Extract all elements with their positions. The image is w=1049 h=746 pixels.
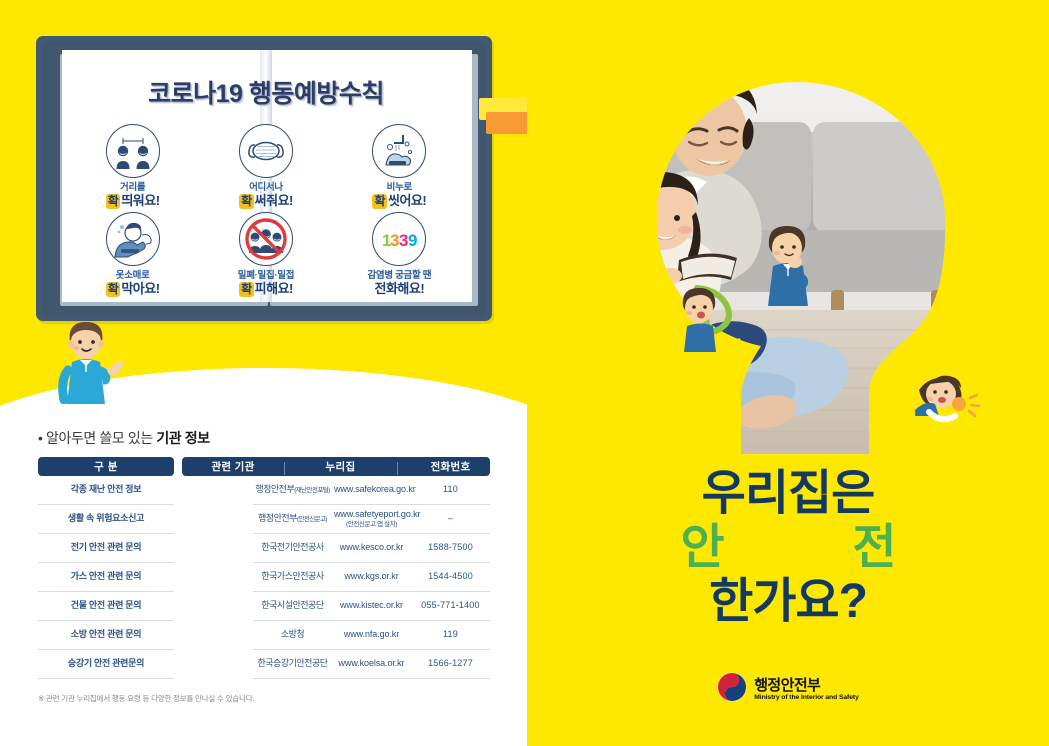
mascot-thinking-icon [755,220,821,306]
cell-url[interactable]: www.kistec.or.kr [332,592,411,621]
table-row: 승강기 안전 관련문의 한국승강기안전공단 www.koelsa.or.kr 1… [38,650,490,679]
cell-url[interactable]: www.nfa.go.kr [332,621,411,650]
poster-item-action: 피해요! [255,281,293,296]
badge-hwak: 확 [239,282,254,297]
svg-text:9: 9 [408,231,417,250]
cell-agency: 한국승강기안전공단 [253,650,332,679]
poster-item-line1: 감염병 궁금할 땐 [333,271,466,281]
cell-spacer [174,650,253,679]
cell-gubun: 건물 안전 관련 문의 [38,592,174,621]
heading-normal: • 알아두면 쓸모 있는 [38,430,156,446]
poster-item-mask: 어디서나 확써줘요! [199,124,332,210]
heading-strong: 기관 정보 [156,430,209,446]
cough-sleeve-icon [106,212,160,266]
agency-name: 행정안전부 [258,513,297,523]
poster-item-action: 씻어요! [388,193,426,208]
cell-url[interactable]: www.safekorea.go.kr [332,476,411,505]
cell-url[interactable]: www.kesco.or.kr [332,534,411,563]
poster-item-action: 띄워요! [121,193,159,208]
ministry-name-en: Ministry of the Interior and Safety [754,694,859,701]
cell-agency: 한국가스안전공사 [253,563,332,592]
badge-hwak: 확 [106,282,121,297]
badge-hwak: 확 [239,194,254,209]
poster-item-line1: 어디서나 [199,183,332,193]
poster-item-line2: 확피해요! [199,281,332,297]
cell-tel: 1566-1277 [411,650,490,679]
cell-spacer [174,505,253,534]
url-subtext: (안전신문고 앱 설치) [334,521,409,529]
agency-table-body: 각종 재난 안전 정보 행정안전부(재난안전포털) www.safekorea.… [38,476,490,679]
bookmark-orange-icon [486,112,527,134]
table-row: 전기 안전 관련 문의 한국전기안전공사 www.kesco.or.kr 158… [38,534,490,563]
call-1339-icon: 1 3 3 9 [372,212,426,266]
cell-tel: – [411,505,490,534]
ministry-logo: 행정안전부 Ministry of the Interior and Safet… [527,672,1049,707]
headline-jeon: 전 [852,522,895,574]
col-header-tel: 전화번호 [397,459,504,474]
cell-gubun: 생활 속 위험요소신고 [38,505,174,534]
poster-title: 코로나19 행동예방수칙 [66,74,466,110]
cell-tel: 055-771-1400 [411,592,490,621]
cover-headline: 우리집은 안 전 한가요? [527,468,1049,627]
cell-spacer [174,563,253,592]
col-header-group: 관련 기관 누리집 전화번호 [174,457,490,476]
table-row: 건물 안전 관련 문의 한국시설안전공단 www.kistec.or.kr 05… [38,592,490,621]
mask-icon [239,124,293,178]
headline-line-3: 한가요? [527,576,1049,628]
cell-url[interactable]: www.safetyeport.go.kr(안전신문고 앱 설치) [332,505,411,534]
table-row: 가스 안전 관련 문의 한국가스안전공사 www.kgs.or.kr 1544-… [38,563,490,592]
cell-gubun: 각종 재난 안전 정보 [38,476,174,505]
mascot-shouting-icon [675,282,747,352]
table-row: 각종 재난 안전 정보 행정안전부(재난안전포털) www.safekorea.… [38,476,490,505]
cell-gubun: 가스 안전 관련 문의 [38,563,174,592]
agency-info-section: • 알아두면 쓸모 있는 기관 정보 구 분 관련 기관 누리집 전화번호 [38,428,490,704]
poster-item-action: 써줘요! [255,193,293,208]
cell-gubun: 소방 안전 관련 문의 [38,621,174,650]
poster-item-line2: 확씻어요! [333,193,466,209]
poster-item-line1: 거리를 [66,183,199,193]
poster-item-action: 전화해요! [374,281,424,296]
poster-item-line1: 옷소매로 [66,271,199,281]
agency-name: 행정안전부 [255,484,294,494]
cell-agency: 행정안전부(재난안전포털) [253,476,332,505]
taegeuk-icon [717,672,747,707]
cell-spacer [174,476,253,505]
agency-paren: (재난안전포털) [294,487,329,494]
col-header-gubun: 구 분 [38,457,174,476]
badge-hwak: 확 [372,194,387,209]
badge-hwak: 확 [106,194,121,209]
poster-item-call-1339: 1 3 3 9 감염병 궁금할 땐 전화해요! [333,212,466,298]
mascot-calling-icon [915,372,983,432]
poster-item-no-crowd: 밀폐·밀집·밀접 확피해요! [199,212,332,298]
col-header-url: 누리집 [284,459,397,474]
poster-item-handwash: 비누로 확씻어요! [333,124,466,210]
poster-item-line1: 비누로 [333,183,466,193]
mascot-pointing-icon [52,312,126,404]
ministry-name-kr: 행정안전부 [754,678,859,694]
poster-item-line2: 확막아요! [66,281,199,297]
distance-icon [106,124,160,178]
cell-spacer [174,621,253,650]
cell-tel: 1588-7500 [411,534,490,563]
poster-item-line2: 전화해요! [333,281,466,297]
headline-line-2: 안 전 [681,522,896,574]
cell-url[interactable]: www.kgs.or.kr [332,563,411,592]
poster-content: 코로나19 행동예방수칙 [66,52,466,302]
brochure-page: 코로나19 행동예방수칙 [0,0,1049,746]
poster-icon-grid: 거리를 확띄워요! [66,124,466,297]
table-row: 생활 속 위험요소신고 행정안전부(안전신문고) www.safetyeport… [38,505,490,534]
poster-item-line2: 확띄워요! [66,193,199,209]
handwash-icon [372,124,426,178]
cell-spacer [174,592,253,621]
cell-agency: 한국전기안전공사 [253,534,332,563]
cell-agency: 행정안전부(안전신문고) [253,505,332,534]
right-panel: 우리집은 안 전 한가요? 행정안전부 Ministry of the Inte… [527,0,1049,746]
table-row: 소방 안전 관련 문의 소방청 www.nfa.go.kr 119 [38,621,490,650]
cell-agency: 소방청 [253,621,332,650]
poster-item-line2: 확써줘요! [199,193,332,209]
poster-item-line1: 밀폐·밀집·밀접 [199,271,332,281]
agency-table: 구 분 관련 기관 누리집 전화번호 각종 재난 안전 정보 [38,457,490,679]
left-panel: 코로나19 행동예방수칙 [0,0,527,746]
poster-item-action: 막아요! [121,281,159,296]
col-header-bar: 관련 기관 누리집 전화번호 [182,457,490,476]
col-header-agency: 관련 기관 [182,459,284,474]
poster-item-cough-sleeve: 옷소매로 확막아요! [66,212,199,298]
poster-item-distance: 거리를 확띄워요! [66,124,199,210]
headline-an: 안 [681,522,724,574]
cell-gubun: 승강기 안전 관련문의 [38,650,174,679]
cell-url[interactable]: www.koelsa.or.kr [332,650,411,679]
headline-line-1: 우리집은 [527,468,1049,520]
agency-info-heading: • 알아두면 쓸모 있는 기관 정보 [38,428,490,448]
cell-tel: 119 [411,621,490,650]
covid-poster-book: 코로나19 행동예방수칙 [36,36,492,321]
url-text: www.safekorea.go.kr [334,484,416,494]
agency-paren: (안전신문고) [297,516,327,523]
cell-spacer [174,534,253,563]
cell-tel: 110 [411,476,490,505]
cell-tel: 1544-4500 [411,563,490,592]
ministry-logo-text: 행정안전부 Ministry of the Interior and Safet… [754,678,859,702]
agency-table-head: 구 분 관련 기관 누리집 전화번호 [38,457,490,476]
table-footnote: ※ 관련 기관 누리집에서 행동 요령 등 다양한 정보를 만나실 수 있습니다… [38,693,490,704]
no-crowd-icon [239,212,293,266]
url-text: www.safetyeport.go.kr [334,509,420,519]
table-header-row: 구 분 관련 기관 누리집 전화번호 [38,457,490,476]
cell-gubun: 전기 안전 관련 문의 [38,534,174,563]
cell-agency: 한국시설안전공단 [253,592,332,621]
